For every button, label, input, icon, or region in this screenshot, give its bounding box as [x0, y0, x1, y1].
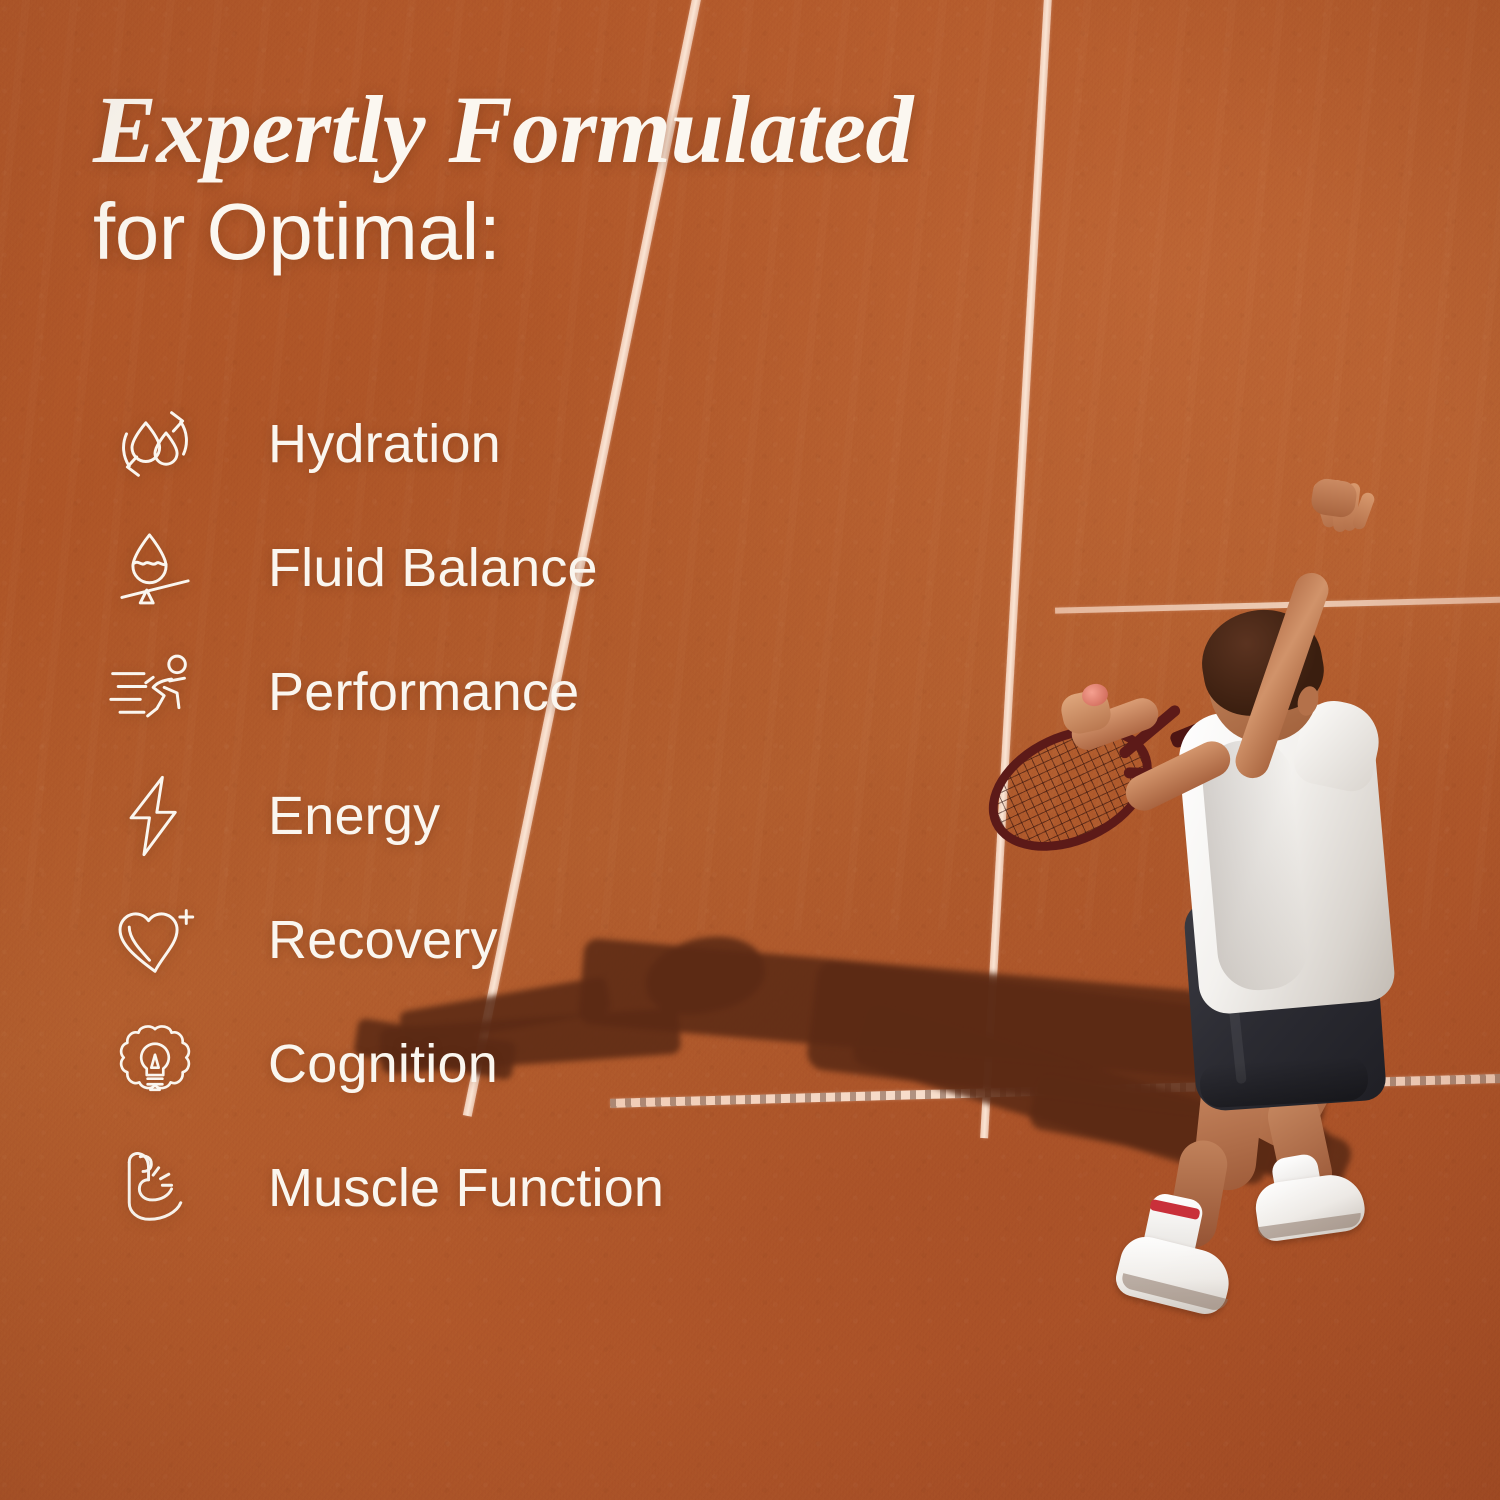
brain-lightbulb-icon: [100, 1014, 210, 1114]
headline-block: Expertly Formulated for Optimal:: [93, 82, 953, 279]
benefits-list: Hydration Fluid Balance: [100, 382, 800, 1250]
benefit-label: Hydration: [268, 417, 501, 471]
headline-line-1: Expertly Formulated: [93, 82, 953, 178]
benefit-item-fluid-balance: Fluid Balance: [100, 506, 800, 630]
promo-image: Expertly Formulated for Optimal: Hydrati…: [0, 0, 1500, 1500]
lightning-bolt-icon: [100, 766, 210, 866]
benefit-item-hydration: Hydration: [100, 382, 800, 506]
benefit-label: Performance: [268, 665, 579, 719]
tennis-player: [1060, 440, 1480, 1250]
player-raised-hand: [1312, 480, 1372, 550]
benefit-item-recovery: Recovery: [100, 878, 800, 1002]
hydration-droplets-recycle-icon: [100, 394, 210, 494]
benefit-label: Fluid Balance: [268, 541, 598, 595]
benefit-item-performance: Performance: [100, 630, 800, 754]
running-figure-speed-lines-icon: [100, 642, 210, 742]
benefit-label: Muscle Function: [268, 1161, 664, 1215]
heart-sparkle-icon: [100, 890, 210, 990]
droplet-on-seesaw-balance-icon: [100, 518, 210, 618]
palm: [1310, 477, 1359, 519]
benefit-label: Energy: [268, 789, 440, 843]
benefit-item-muscle-function: Muscle Function: [100, 1126, 800, 1250]
player-shorts-hem: [1199, 1056, 1369, 1109]
benefit-item-cognition: Cognition: [100, 1002, 800, 1126]
headline-line-2: for Optimal:: [93, 186, 953, 279]
benefit-item-energy: Energy: [100, 754, 800, 878]
benefit-label: Cognition: [268, 1037, 498, 1091]
flexed-bicep-icon: [100, 1138, 210, 1238]
benefit-label: Recovery: [268, 913, 498, 967]
